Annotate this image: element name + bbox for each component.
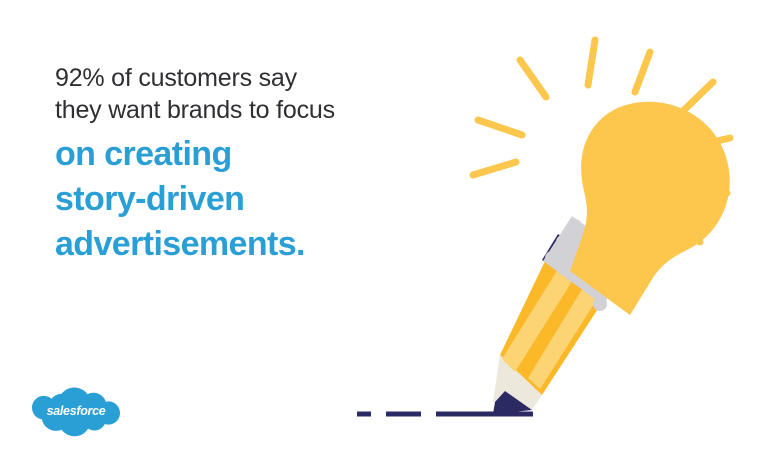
- lightbulb-glass: [570, 102, 730, 315]
- lightbulb-pencil-illustration: [330, 10, 765, 460]
- lightbulb-icon: [570, 102, 730, 315]
- logo-wordmark: salesforce: [47, 404, 106, 418]
- ray-top-2: [635, 52, 650, 92]
- slide-canvas: 92% of customers say they want brands to…: [0, 0, 765, 470]
- ray-upper-right: [680, 82, 713, 114]
- ray-left-2: [473, 162, 516, 175]
- ray-top-1: [588, 40, 595, 85]
- salesforce-logo: salesforce: [30, 386, 122, 438]
- ray-left-1: [478, 120, 522, 135]
- ray-upper-left: [520, 60, 546, 97]
